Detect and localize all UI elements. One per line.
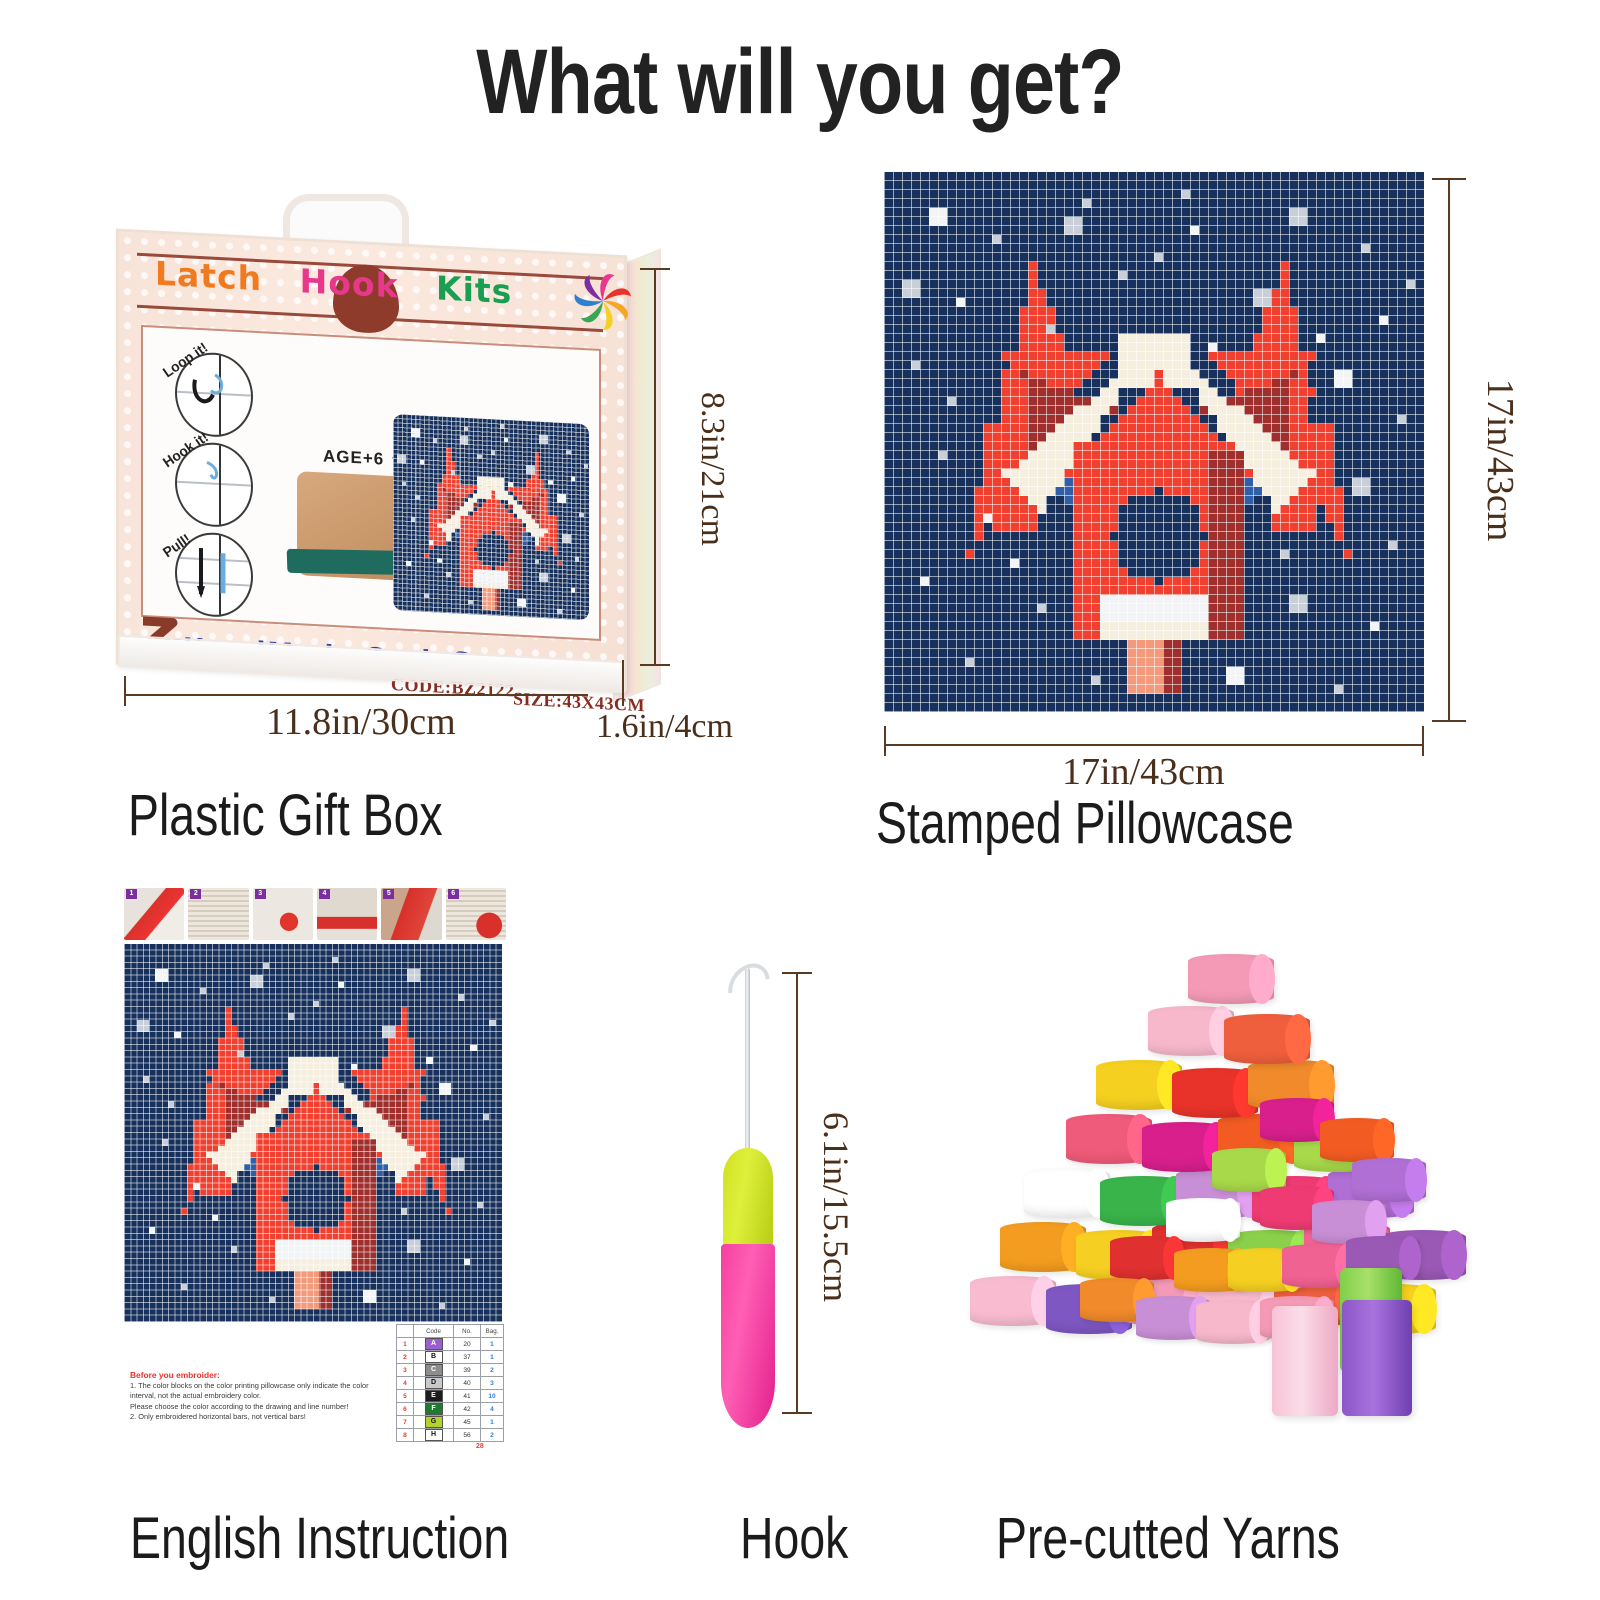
instruction-chart-artwork (124, 944, 502, 1322)
yarn-bundle (1166, 1198, 1240, 1242)
notes-line: Please choose the color according to the… (130, 1402, 390, 1413)
hook-height-label: 6.1in/15.5cm (815, 1107, 857, 1307)
yarn-bundle (1110, 1236, 1184, 1280)
table-row: 1A201 (397, 1338, 504, 1351)
cell-no: 40 (454, 1377, 481, 1390)
photo-step: 1 (124, 888, 184, 940)
cell-code: B (414, 1351, 454, 1364)
pillowcase-height-tick-top (1432, 178, 1466, 180)
cell-no: 45 (454, 1416, 481, 1429)
cell-no: 20 (454, 1338, 481, 1351)
photo-step-number: 6 (448, 889, 459, 899)
yarn-bundle (1066, 1114, 1152, 1164)
english-instruction-image: 1 2 3 4 5 6 Before you embroider: 1. The… (124, 888, 506, 1468)
photo-step-number: 3 (255, 889, 266, 899)
box-illustration-panel: Loop it! Hook it! Pull! AGE+6 ↑ (141, 325, 601, 641)
photo-step-number: 2 (190, 889, 201, 899)
th-bag: Bag. (481, 1325, 504, 1338)
brand-word-1: Latch (155, 254, 262, 299)
cell-index: 7 (397, 1416, 414, 1429)
pillowcase-width-line (886, 744, 1424, 746)
yarn-bundle (1320, 1118, 1394, 1162)
cell-index: 5 (397, 1390, 414, 1403)
pinwheel-logo (567, 263, 639, 339)
yarn-bundle (1172, 1068, 1258, 1118)
table-row: 6F424 (397, 1403, 504, 1416)
yarn-bundle (1096, 1060, 1182, 1110)
notes-line: 1. The color blocks on the color printin… (130, 1381, 390, 1402)
cell-no: 56 (454, 1429, 481, 1442)
photo-step-number: 1 (126, 889, 137, 899)
notes-line: 2. Only embroidered horizontal bars, not… (130, 1412, 390, 1423)
brand-word-2: Hook (300, 261, 399, 305)
pillowcase-width-tick-right (1422, 726, 1424, 756)
hook-needle (745, 968, 750, 1158)
giftbox-width-tick-left (124, 676, 126, 706)
cell-no: 41 (454, 1390, 481, 1403)
pre-cutted-yarns-image (960, 948, 1450, 1448)
yarn-bundle (1188, 954, 1274, 1004)
photo-step: 3 (253, 888, 313, 940)
caption-pre-cutted-yarns: Pre-cutted Yarns (996, 1505, 1340, 1572)
color-code-table: Code No. Bag. 1A2012B3713C3924D4035E4110… (396, 1324, 504, 1442)
th-code: Code (414, 1325, 454, 1338)
giftbox-depth-label: 1.6in/4cm (596, 708, 733, 746)
hook-height-line (796, 972, 798, 1414)
th-index (397, 1325, 414, 1338)
table-header-row: Code No. Bag. (397, 1325, 504, 1338)
photo-step-number: 4 (319, 889, 330, 899)
cell-no: 37 (454, 1351, 481, 1364)
photo-step: 6 (446, 888, 506, 940)
giftbox-height-line (654, 268, 656, 666)
cell-index: 6 (397, 1403, 414, 1416)
cell-code: G (414, 1416, 454, 1429)
cell-bag: 10 (481, 1390, 504, 1403)
cell-bag: 1 (481, 1416, 504, 1429)
photo-step: 2 (188, 888, 248, 940)
color-table-total: 28 (476, 1443, 484, 1450)
giftbox-height-tick-bottom (640, 664, 670, 666)
table-row: 7G451 (397, 1416, 504, 1429)
cell-bag: 1 (481, 1351, 504, 1364)
age-label: AGE+6 ↑ (323, 446, 399, 470)
cell-code: F (414, 1403, 454, 1416)
hook-image (700, 958, 820, 1448)
photo-step-strip: 1 2 3 4 5 6 (124, 888, 506, 940)
cell-code: D (414, 1377, 454, 1390)
cell-no: 39 (454, 1364, 481, 1377)
cell-index: 1 (397, 1338, 414, 1351)
yarn-bundle (1000, 1222, 1086, 1272)
notes-heading: Before you embroider: (130, 1370, 390, 1381)
brand-word-3: Kits (436, 268, 512, 311)
pillowcase-width-label: 17in/43cm (1062, 750, 1225, 794)
yarn-bundle (1148, 1006, 1234, 1056)
giftbox-height-label: 8.3in/21cm (693, 369, 731, 569)
photo-step: 5 (381, 888, 441, 940)
giftbox-width-label: 11.8in/30cm (266, 700, 456, 744)
photo-step-number: 5 (383, 889, 394, 899)
cell-bag: 1 (481, 1338, 504, 1351)
yarn-bundle (1212, 1148, 1286, 1192)
table-row: 8H562 (397, 1429, 504, 1442)
caption-stamped-pillowcase: Stamped Pillowcase (876, 790, 1294, 857)
caption-hook: Hook (740, 1505, 848, 1572)
hook-handle-bottom (721, 1244, 775, 1428)
yarn-bundle (970, 1276, 1056, 1326)
table-row: 2B371 (397, 1351, 504, 1364)
cell-bag: 4 (481, 1403, 504, 1416)
yarn-bundle (1196, 1300, 1270, 1344)
hook-handle-top (723, 1148, 773, 1246)
yarn-bundle (1224, 1014, 1310, 1064)
pillowcase-height-line (1448, 178, 1450, 722)
photo-step: 4 (317, 888, 377, 940)
table-row: 5E4110 (397, 1390, 504, 1403)
caption-gift-box: Plastic Gift Box (128, 782, 443, 849)
giftbox-height-tick-top (640, 268, 670, 270)
giftbox-depth-line (622, 660, 624, 706)
yarn-bundle-upright (1272, 1306, 1338, 1416)
cell-bag: 2 (481, 1429, 504, 1442)
table-row: 3C392 (397, 1364, 504, 1377)
cell-index: 2 (397, 1351, 414, 1364)
box-pillow-artwork (393, 414, 589, 620)
cell-code: A (414, 1338, 454, 1351)
hook-height-tick-top (782, 972, 812, 974)
pillowcase-height-tick-bottom (1432, 720, 1466, 722)
pillowcase-width-tick-left (884, 726, 886, 756)
giftbox-width-line (126, 694, 588, 696)
hook-height-tick-bottom (782, 1412, 812, 1414)
cell-index: 3 (397, 1364, 414, 1377)
yarn-bundle (1024, 1168, 1110, 1218)
cell-no: 42 (454, 1403, 481, 1416)
stamped-pillowcase-image (884, 172, 1424, 712)
instruction-notes: Before you embroider: 1. The color block… (130, 1370, 390, 1423)
yarn-bundle-upright (1342, 1300, 1412, 1416)
gift-box-image: Latch Hook Kits Loop it! (108, 196, 668, 696)
cell-bag: 3 (481, 1377, 504, 1390)
cell-code: C (414, 1364, 454, 1377)
yarn-bundle (1352, 1158, 1426, 1202)
cell-bag: 2 (481, 1364, 504, 1377)
pillowcase-height-label: 17in/43cm (1478, 360, 1522, 560)
cell-index: 8 (397, 1429, 414, 1442)
caption-english-instruction: English Instruction (130, 1505, 509, 1572)
cell-code: H (414, 1429, 454, 1442)
table-row: 4D403 (397, 1377, 504, 1390)
box-front-panel: Latch Hook Kits Loop it! (116, 229, 627, 692)
cell-code: E (414, 1390, 454, 1403)
page-title: What will you get? (144, 34, 1456, 131)
th-no: No. (454, 1325, 481, 1338)
cell-index: 4 (397, 1377, 414, 1390)
